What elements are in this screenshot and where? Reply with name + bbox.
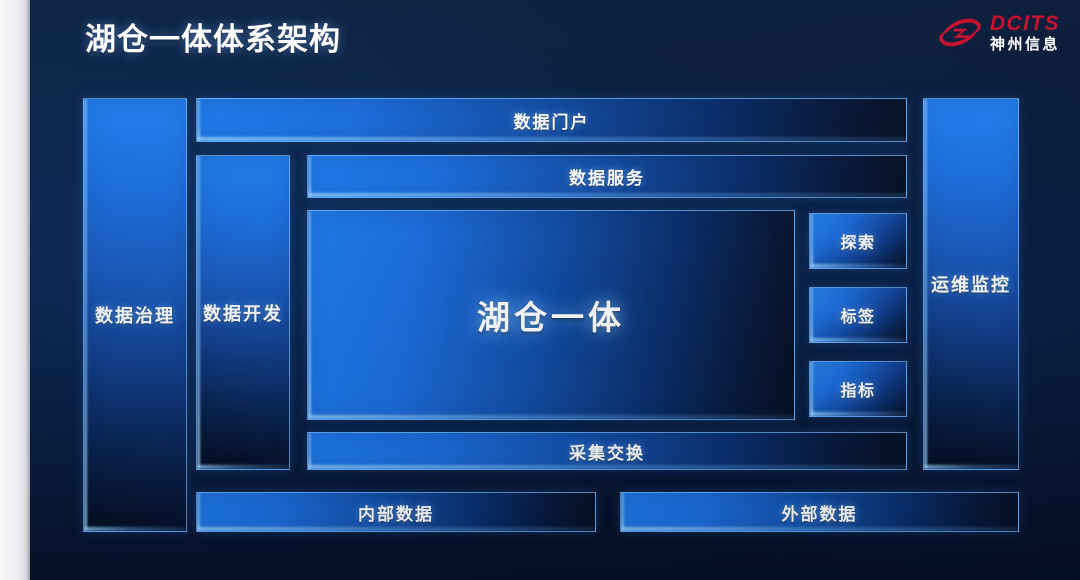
core-lakehouse-label: 湖仓一体 — [477, 291, 625, 339]
pillar-data-governance-label: 数据治理 — [95, 302, 175, 328]
module-metric-label: 指标 — [840, 377, 875, 401]
pillar-data-development[interactable]: 数据开发 — [196, 155, 290, 470]
source-internal-data-label: 内部数据 — [358, 500, 434, 525]
source-internal-data[interactable]: 内部数据 — [196, 492, 596, 532]
logo-english-text: DCITS — [990, 13, 1060, 34]
brand-logo: DCITS 神州信息 — [937, 12, 1060, 52]
source-external-data[interactable]: 外部数据 — [620, 492, 1019, 532]
module-explore[interactable]: 探索 — [809, 213, 907, 269]
layer-collect-exchange[interactable]: 采集交换 — [307, 432, 907, 470]
module-tag-label: 标签 — [840, 303, 875, 327]
layer-collect-exchange-label: 采集交换 — [569, 439, 645, 464]
page-title: 湖仓一体体系架构 — [85, 14, 341, 59]
slide-root: 湖仓一体体系架构 DCITS 神州信息 数据治理 数据开发 数据门 — [0, 0, 1080, 580]
layer-data-portal[interactable]: 数据门户 — [196, 98, 907, 142]
source-external-data-label: 外部数据 — [782, 500, 858, 525]
dcits-swirl-logo-icon — [937, 12, 983, 52]
module-metric[interactable]: 指标 — [809, 361, 907, 417]
module-tag[interactable]: 标签 — [809, 287, 907, 343]
logo-wordmark: DCITS 神州信息 — [990, 13, 1060, 52]
layer-data-service-label: 数据服务 — [569, 164, 645, 189]
layer-data-service[interactable]: 数据服务 — [307, 155, 907, 198]
pillar-ops-monitoring-label: 运维监控 — [931, 271, 1011, 297]
layer-data-portal-label: 数据门户 — [514, 108, 590, 133]
logo-chinese-text: 神州信息 — [990, 37, 1060, 52]
left-gutter-strip — [0, 0, 30, 580]
pillar-data-development-label: 数据开发 — [203, 300, 283, 326]
core-lakehouse[interactable]: 湖仓一体 — [307, 210, 795, 420]
slide-canvas: 湖仓一体体系架构 DCITS 神州信息 数据治理 数据开发 数据门 — [30, 0, 1080, 580]
pillar-ops-monitoring[interactable]: 运维监控 — [923, 98, 1019, 470]
module-explore-label: 探索 — [840, 229, 875, 253]
pillar-data-governance[interactable]: 数据治理 — [83, 98, 187, 532]
